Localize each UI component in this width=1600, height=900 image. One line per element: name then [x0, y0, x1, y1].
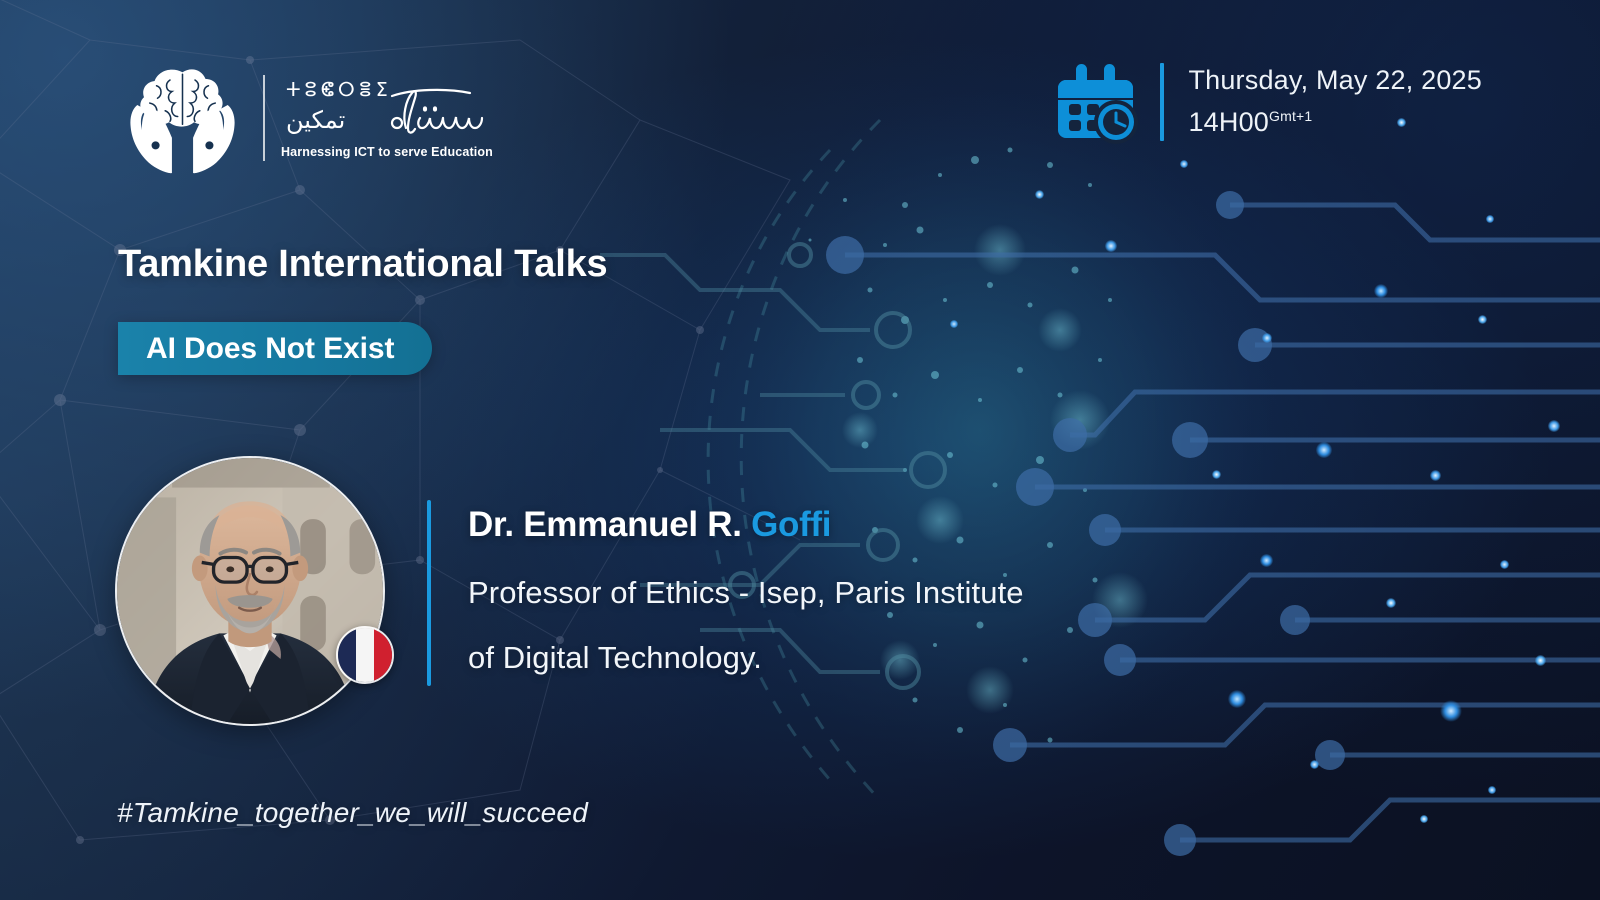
logo-tagline: Harnessing ICT to serve Education [281, 145, 493, 159]
logo-arabic: تمكين [286, 106, 345, 134]
speaker-name: Dr. Emmanuel R. Goffi [468, 505, 1188, 545]
speaker-info: Dr. Emmanuel R. Goffi Professor of Ethic… [468, 505, 1188, 681]
speaker-role-line1: Professor of Ethics - Isep, Paris Instit… [468, 575, 1024, 610]
page-title: Tamkine International Talks [118, 243, 607, 286]
event-datetime: Thursday, May 22, 2025 14H00Gmt+1 [1058, 60, 1482, 144]
topic-label: AI Does Not Exist [146, 332, 394, 366]
event-poster: ⵜⵓⵞⵔⴻⵉ تمكين Harnessing ICT to serve Edu… [0, 0, 1600, 900]
topic-badge: AI Does Not Exist [118, 322, 432, 375]
speaker-name-last: Goffi [751, 505, 831, 544]
calendar-clock-icon [1058, 60, 1140, 144]
event-time-value: 14H00 [1188, 107, 1269, 137]
event-date: Thursday, May 22, 2025 [1188, 64, 1482, 98]
event-time: 14H00Gmt+1 [1188, 104, 1482, 140]
flag-band-white [356, 628, 374, 682]
france-flag-icon [336, 626, 394, 684]
speaker-photo [117, 458, 383, 724]
hands-holding-brain-icon [110, 55, 255, 180]
datetime-divider [1160, 63, 1164, 141]
speaker-role-line2: of Digital Technology. [468, 636, 1188, 681]
brand-logo[interactable]: ⵜⵓⵞⵔⴻⵉ تمكين Harnessing ICT to serve Edu… [110, 55, 493, 180]
speaker-role: Professor of Ethics - Isep, Paris Instit… [468, 571, 1188, 681]
speaker-portrait [115, 456, 385, 726]
logo-divider [263, 75, 265, 161]
event-timezone: Gmt+1 [1269, 108, 1312, 124]
speaker-name-first: Dr. Emmanuel R. [468, 505, 751, 544]
logo-tifinagh: ⵜⵓⵞⵔⴻⵉ [286, 79, 392, 101]
hashtag: #Tamkine_together_we_will_succeed [117, 797, 588, 829]
speaker-divider [427, 500, 431, 686]
logo-wordmark: ⵜⵓⵞⵔⴻⵉ تمكين [284, 76, 489, 144]
